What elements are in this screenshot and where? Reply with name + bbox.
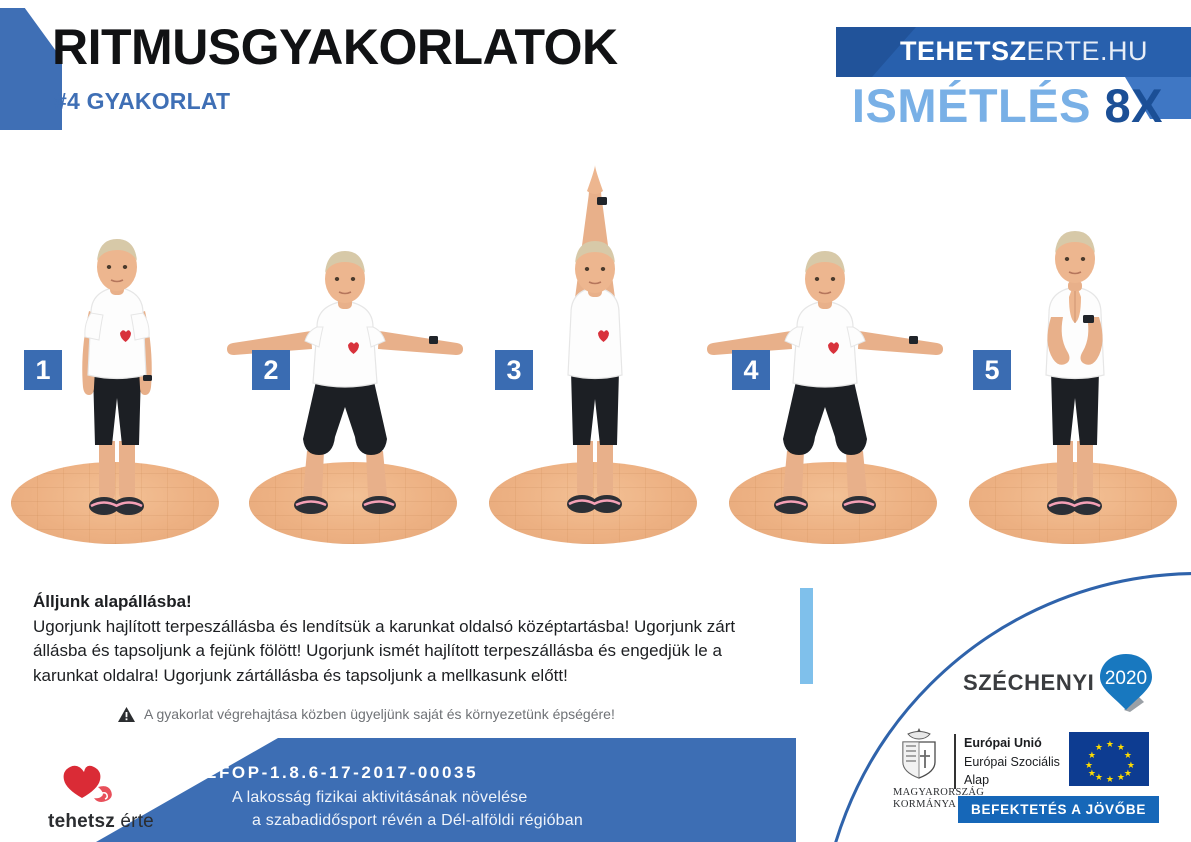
szechenyi-year: 2020: [1105, 668, 1147, 689]
hungarian-coat-of-arms-icon: [898, 728, 940, 780]
exercise-poster: RITMUSGYAKORLATOK #4 GYAKORLAT TEHETSZER…: [0, 0, 1191, 842]
pose-strip: 1: [0, 142, 1191, 562]
page-title: RITMUSGYAKORLATOK: [52, 22, 618, 72]
pose-badge-5: 5: [973, 350, 1011, 390]
hungary-line1: MAGYARORSZÁG: [893, 787, 945, 799]
pose-badge-2: 2: [252, 350, 290, 390]
eu-funding-logos: MAGYARORSZÁG KORMÁNYA Európai Unió Európ…: [893, 728, 1149, 811]
pose-badge-1: 1: [24, 350, 62, 390]
safety-warning-text: A gyakorlat végrehajtása közben ügyeljün…: [144, 706, 615, 722]
instructions-body: Ugorjunk hajlított terpeszállásba és len…: [33, 615, 778, 689]
site-url-light: ERTE.HU: [1027, 36, 1149, 66]
szechenyi-balloon-icon: 2020: [1098, 652, 1158, 714]
heart-icon: [36, 762, 166, 804]
exercise-subtitle: #4 GYAKORLAT: [54, 90, 230, 113]
szechenyi-2020-logo: SZÉCHENYI 2020: [963, 652, 1158, 714]
warning-triangle-icon: [118, 707, 135, 722]
pose-3: 3: [475, 142, 710, 562]
instructions-block: Álljunk alapállásba! Ugorjunk hajlított …: [33, 590, 778, 689]
eu-line1: Európai Unió: [964, 734, 1060, 753]
site-url-bold: TEHETSZ: [900, 36, 1027, 66]
logo-light-word: érte: [120, 811, 154, 832]
eu-investment-banner: BEFEKTETÉS A JÖVŐBE: [958, 796, 1159, 823]
hungary-government-label: MAGYARORSZÁG KORMÁNYA: [893, 787, 945, 811]
pose-4: 4: [710, 142, 955, 562]
eu-fund-text: Európai Unió Európai Szociális Alap: [954, 734, 1060, 789]
eu-flag-icon: ★ ★ ★ ★ ★ ★ ★ ★ ★ ★ ★ ★: [1069, 732, 1149, 786]
project-code: EFOP-1.8.6-17-2017-00035: [205, 763, 478, 783]
eu-line3: Alap: [964, 771, 1060, 789]
hungary-line2: KORMÁNYA: [893, 799, 945, 811]
repetitions: ISMÉTLÉS 8X: [852, 82, 1163, 129]
logo-bold-word: tehetsz: [48, 811, 115, 832]
tehetsz-erte-logo[interactable]: tehetsz érte: [36, 762, 166, 833]
instructions-title: Álljunk alapállásba!: [33, 590, 778, 615]
hungary-crest: MAGYARORSZÁG KORMÁNYA: [893, 728, 945, 811]
safety-warning: A gyakorlat végrehajtása közben ügyeljün…: [118, 706, 615, 722]
pose-2: 2: [230, 142, 475, 562]
repetitions-count: 8X: [1105, 79, 1164, 132]
eu-line2: Európai Szociális: [964, 753, 1060, 771]
site-url: TEHETSZERTE.HU: [900, 38, 1148, 65]
tehetsz-erte-wordmark: tehetsz érte: [36, 811, 166, 833]
pose-badge-3: 3: [495, 350, 533, 390]
pose-5: 5: [955, 142, 1191, 562]
instructions-divider-bar: [800, 588, 813, 684]
figure-arms-overhead-clap: [493, 133, 693, 528]
pose-1: 1: [0, 142, 230, 562]
pose-badge-4: 4: [732, 350, 770, 390]
szechenyi-text: SZÉCHENYI: [963, 670, 1094, 696]
repetitions-label: ISMÉTLÉS: [852, 79, 1091, 132]
project-description-line1: A lakosság fizikai aktivitásának növelés…: [232, 789, 527, 807]
project-description-line2: a szabadidősport révén a Dél-alföldi rég…: [252, 812, 583, 830]
